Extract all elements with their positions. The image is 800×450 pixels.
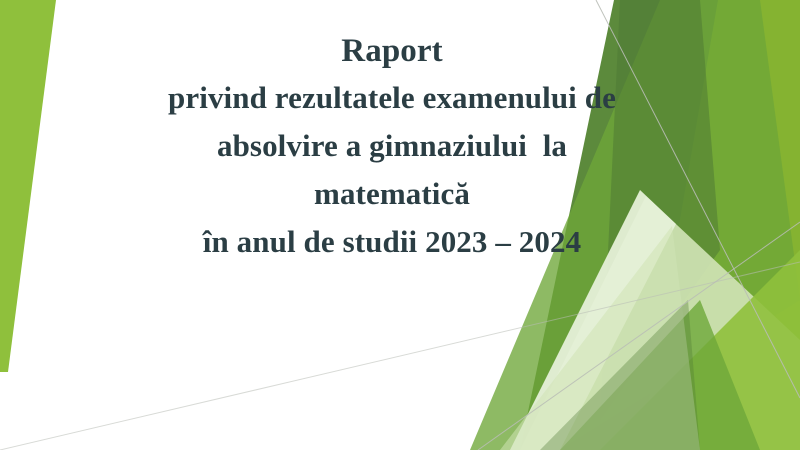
title-line-3: absolvire a gimnaziului la (72, 122, 712, 170)
title-slide: Raport privind rezultatele examenului de… (0, 0, 800, 450)
title-line-1: Raport (72, 28, 712, 74)
title-line-4: matematică (72, 170, 712, 218)
bottom-mid-green-block (560, 300, 760, 450)
hairline-shallow-left (0, 262, 800, 450)
left-green-wedge (0, 0, 56, 372)
page-title: Raport privind rezultatele examenului de… (72, 28, 712, 266)
title-line-5: în anul de studii 2023 – 2024 (72, 218, 712, 266)
lower-right-bright-triangle (600, 250, 800, 450)
title-line-2: privind rezultatele examenului de (72, 74, 712, 122)
bottom-edge-dark-accent (540, 300, 700, 450)
